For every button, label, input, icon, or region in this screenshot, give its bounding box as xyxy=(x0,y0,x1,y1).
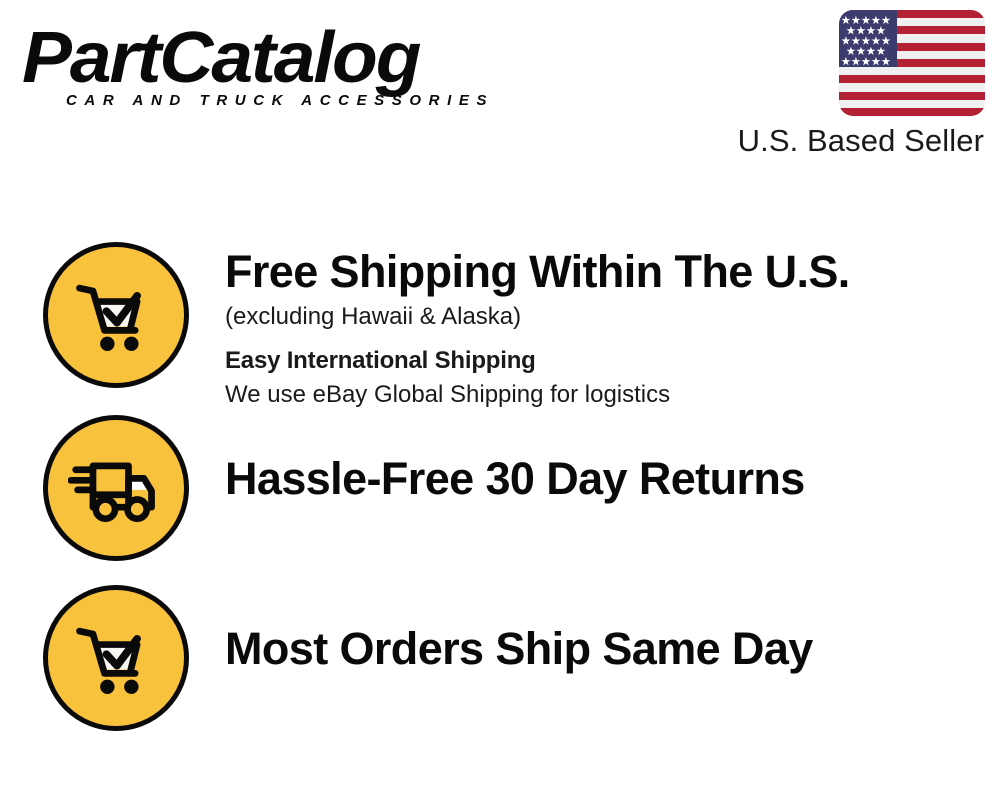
us-based-seller-block: U.S. Based Seller xyxy=(696,8,986,158)
us-based-seller-label: U.S. Based Seller xyxy=(738,122,984,160)
brand-logo: PartCatalog CAR AND TRUCK ACCESSORIES xyxy=(22,20,492,115)
flag-stripe xyxy=(839,83,985,91)
feature-row: Free Shipping Within The U.S. (excluding… xyxy=(0,242,1000,412)
flag-stripe xyxy=(839,100,985,108)
brand-wordmark: PartCatalog xyxy=(22,20,419,96)
us-flag-icon xyxy=(839,10,985,116)
feature-text-block: Most Orders Ship Same Day xyxy=(225,585,1000,675)
flag-stripe xyxy=(839,75,985,83)
feature-title: Free Shipping Within The U.S. xyxy=(225,246,1000,298)
feature-subtitle: (excluding Hawaii & Alaska) xyxy=(225,300,1000,334)
page-header: PartCatalog CAR AND TRUCK ACCESSORIES xyxy=(0,0,1000,180)
feature-title: Hassle-Free 30 Day Returns xyxy=(225,453,1000,505)
features-list: Free Shipping Within The U.S. (excluding… xyxy=(0,180,1000,800)
shopping-cart-check-icon xyxy=(43,585,189,731)
feature-row: Hassle-Free 30 Day Returns xyxy=(0,415,1000,561)
shopping-cart-check-icon xyxy=(43,242,189,388)
flag-stripe xyxy=(839,92,985,100)
flag-canton xyxy=(839,10,897,67)
flag-stripe xyxy=(839,108,985,116)
feature-title: Most Orders Ship Same Day xyxy=(225,623,1000,675)
feature-secondary-subtitle: We use eBay Global Shipping for logistic… xyxy=(225,378,1000,412)
feature-row: Most Orders Ship Same Day xyxy=(0,585,1000,731)
delivery-truck-icon xyxy=(43,415,189,561)
feature-text-block: Free Shipping Within The U.S. (excluding… xyxy=(225,242,1000,412)
flag-stripe xyxy=(839,67,985,75)
brand-tagline: CAR AND TRUCK ACCESSORIES xyxy=(66,92,494,110)
feature-secondary-title: Easy International Shipping xyxy=(225,344,1000,378)
feature-text-block: Hassle-Free 30 Day Returns xyxy=(225,415,1000,505)
